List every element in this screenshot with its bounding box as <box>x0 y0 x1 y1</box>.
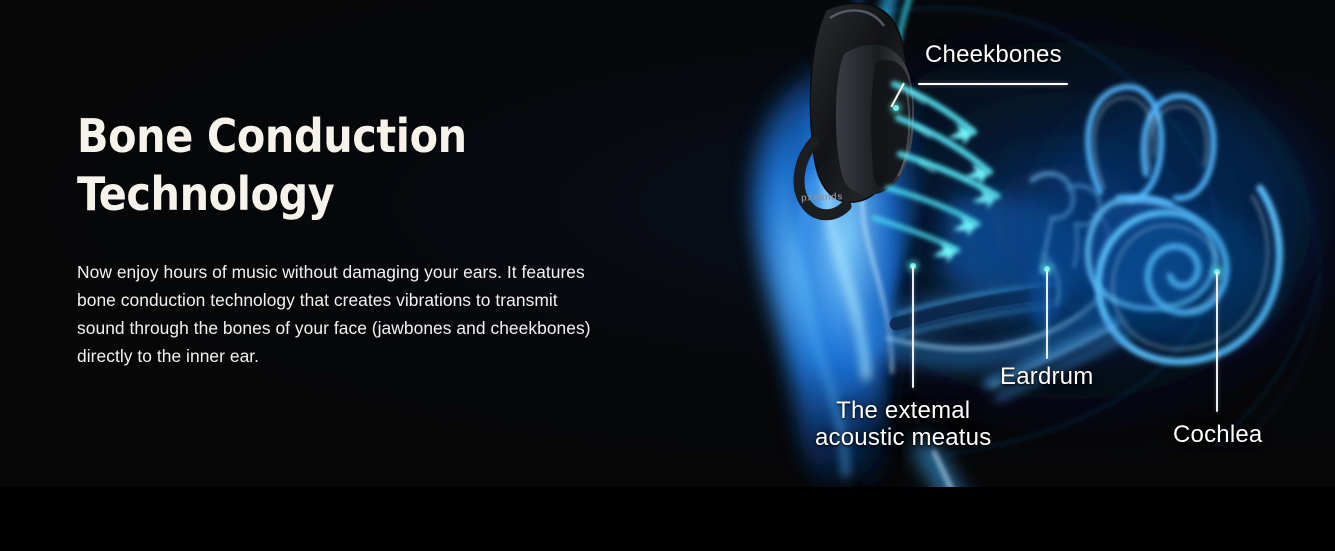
cheekbones-marker-dot <box>893 105 899 111</box>
feature-description: Now enjoy hours of music without damagin… <box>77 258 657 371</box>
page-title: Bone Conduction Technology <box>77 108 657 224</box>
cheekbones-underline <box>918 83 1068 85</box>
cochlea-leader-line <box>1216 272 1218 412</box>
below-fold-area <box>0 487 1335 551</box>
eardrum-leader-line <box>1046 269 1048 359</box>
ear-anatomy-illustration <box>648 0 1335 487</box>
product-feature-banner: Bone Conduction Technology Now enjoy hou… <box>0 0 1335 551</box>
external-acoustic-meatus-leader-line <box>912 266 914 388</box>
banner-panel: Bone Conduction Technology Now enjoy hou… <box>0 0 1335 487</box>
feature-copy-block: Bone Conduction Technology Now enjoy hou… <box>77 108 657 371</box>
